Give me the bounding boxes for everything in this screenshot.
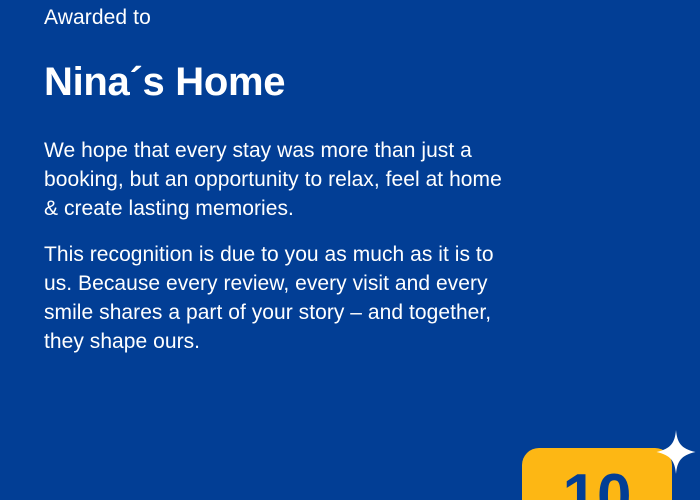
sparkle-star-icon bbox=[656, 430, 696, 474]
message-paragraph-2: This recognition is due to you as much a… bbox=[44, 241, 504, 356]
message-paragraph-1: We hope that every stay was more than ju… bbox=[44, 137, 504, 223]
badge-number: 10 bbox=[522, 448, 672, 500]
page-title: Nina´s Home bbox=[44, 32, 514, 105]
award-card: Awarded to Nina´s Home We hope that ever… bbox=[0, 0, 700, 500]
awarded-to-label: Awarded to bbox=[44, 0, 514, 32]
award-badge: 10 bbox=[522, 446, 700, 500]
award-content: Awarded to Nina´s Home We hope that ever… bbox=[44, 0, 514, 357]
message-body: We hope that every stay was more than ju… bbox=[44, 105, 514, 357]
